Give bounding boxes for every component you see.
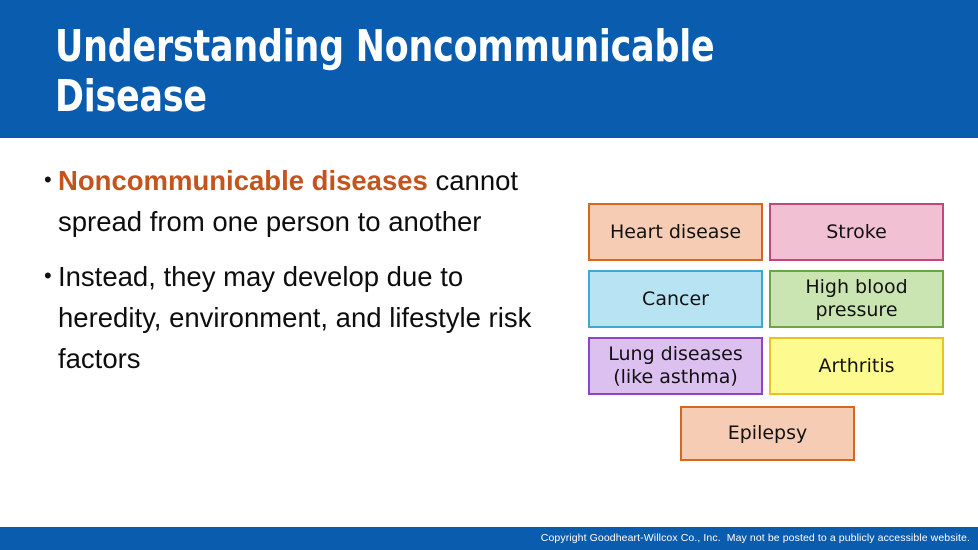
condition-box-cancer: Cancer bbox=[588, 270, 763, 328]
bullet-text: Noncommunicable diseases cannot spread f… bbox=[58, 160, 570, 242]
condition-box-heart-disease: Heart disease bbox=[588, 203, 763, 261]
condition-box-label: Heart disease bbox=[610, 221, 741, 244]
condition-box-label: Arthritis bbox=[818, 355, 894, 378]
copyright-notice: Copyright Goodheart-Willcox Co., Inc. Ma… bbox=[541, 530, 970, 546]
condition-box-group: Heart disease Stroke Cancer High bloodpr… bbox=[588, 203, 948, 465]
condition-box-label: Epilepsy bbox=[728, 422, 808, 445]
condition-box-epilepsy: Epilepsy bbox=[680, 406, 855, 461]
condition-box-label: Lung diseases(like asthma) bbox=[608, 343, 743, 389]
condition-box-arthritis: Arthritis bbox=[769, 337, 944, 395]
condition-box-label: Stroke bbox=[826, 221, 887, 244]
slide-title: Understanding Noncommunicable Disease bbox=[55, 22, 785, 122]
condition-box-high-blood-pressure: High bloodpressure bbox=[769, 270, 944, 328]
bullet-list: • Noncommunicable diseases cannot spread… bbox=[40, 160, 570, 393]
presentation-slide: Understanding Noncommunicable Disease • … bbox=[0, 0, 978, 550]
condition-box-label: Cancer bbox=[642, 288, 709, 311]
list-item: • Noncommunicable diseases cannot spread… bbox=[40, 160, 570, 242]
slide-title-band: Understanding Noncommunicable Disease bbox=[0, 0, 978, 138]
condition-box-stroke: Stroke bbox=[769, 203, 944, 261]
condition-box-label: High bloodpressure bbox=[805, 276, 907, 322]
bullet-marker-icon: • bbox=[40, 160, 58, 200]
bullet-marker-icon: • bbox=[40, 256, 58, 296]
list-item: • Instead, they may develop due to hered… bbox=[40, 256, 570, 379]
condition-box-lung-diseases: Lung diseases(like asthma) bbox=[588, 337, 763, 395]
bullet-highlight-term: Noncommunicable diseases bbox=[58, 165, 428, 196]
bullet-text: Instead, they may develop due to heredit… bbox=[58, 256, 570, 379]
bullet-body-text: Instead, they may develop due to heredit… bbox=[58, 261, 531, 374]
